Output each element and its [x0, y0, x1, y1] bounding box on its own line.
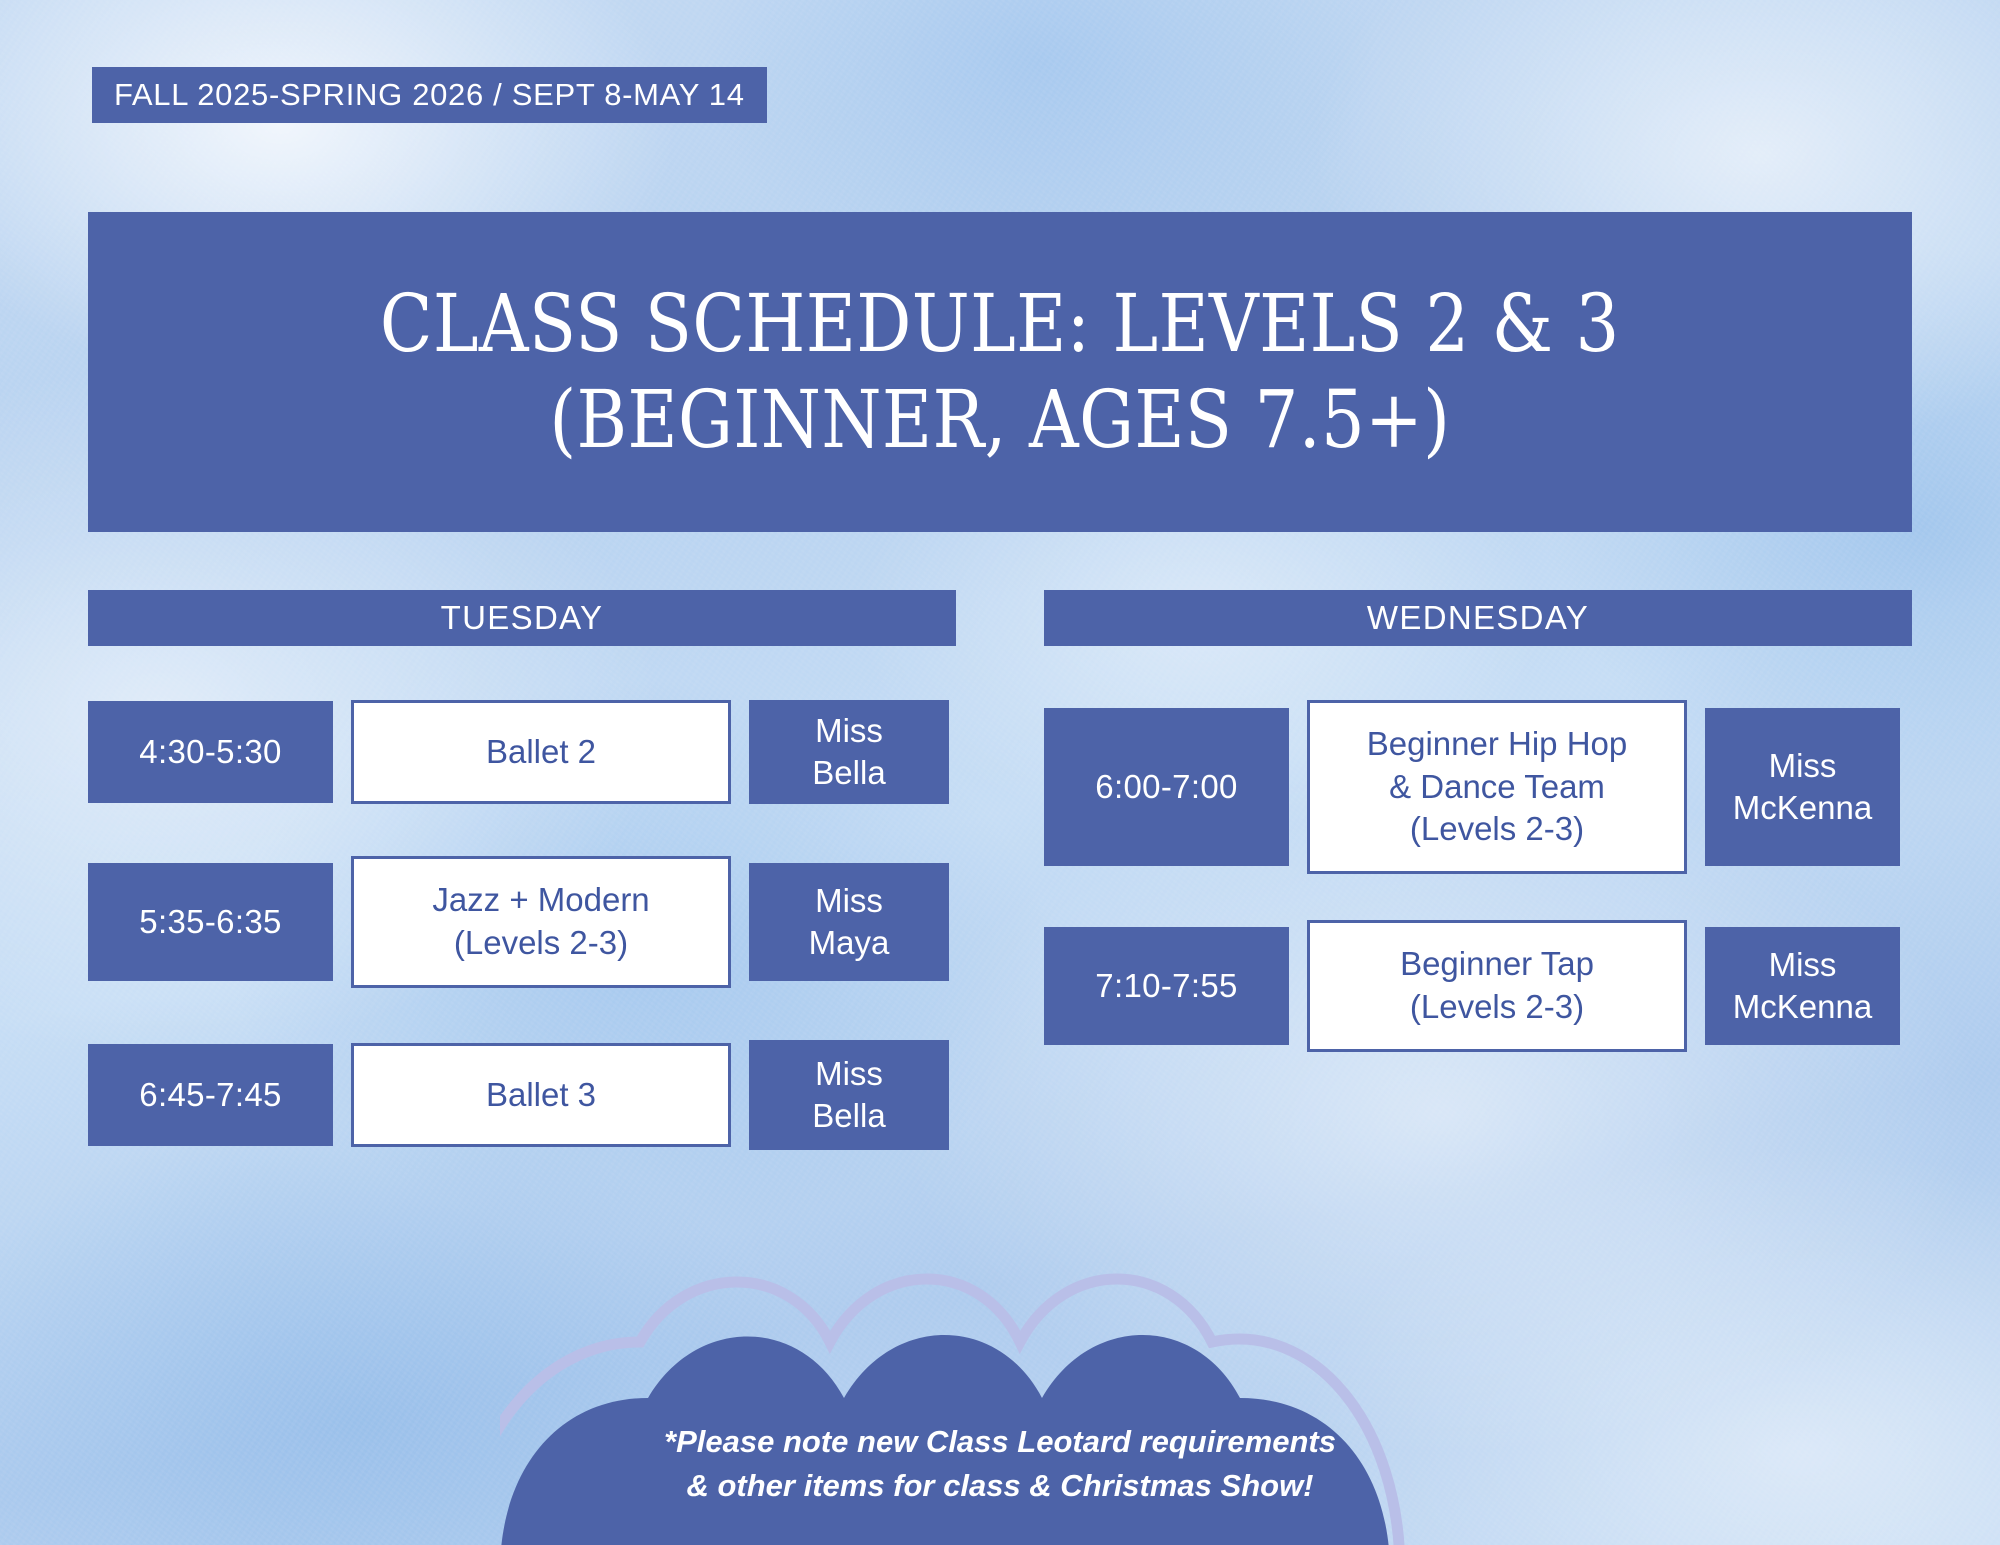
class-cell: Ballet 2 [351, 700, 731, 804]
teacher-cell: Miss Maya [749, 863, 949, 981]
class-name-line-1: Jazz + Modern [432, 879, 649, 922]
time-label: 7:10-7:55 [1095, 967, 1237, 1005]
season-ribbon-label: FALL 2025-SPRING 2026 / SEPT 8-MAY 14 [114, 77, 745, 113]
class-name-line-1: Ballet 3 [486, 1074, 596, 1117]
day-header-label: WEDNESDAY [1367, 599, 1589, 637]
schedule-columns: TUESDAY 4:30-5:30 Ballet 2 Miss Bella 5:… [88, 590, 1912, 1150]
time-label: 4:30-5:30 [139, 733, 281, 771]
schedule-row: 6:00-7:00 Beginner Hip Hop & Dance Team … [1044, 700, 1912, 874]
teacher-title: Miss [815, 1053, 883, 1095]
time-label: 6:45-7:45 [139, 1076, 281, 1114]
footer-note-line-1: *Please note new Class Leotard requireme… [548, 1420, 1452, 1464]
teacher-title: Miss [1769, 944, 1837, 986]
schedule-row: 5:35-6:35 Jazz + Modern (Levels 2-3) Mis… [88, 856, 956, 988]
class-cell: Beginner Tap (Levels 2-3) [1307, 920, 1687, 1052]
page-title-line-1: CLASS SCHEDULE: LEVELS 2 & 3 [380, 277, 1620, 371]
footer-note-line-2: & other items for class & Christmas Show… [548, 1464, 1452, 1508]
season-ribbon: FALL 2025-SPRING 2026 / SEPT 8-MAY 14 [92, 67, 767, 123]
schedule-row: 7:10-7:55 Beginner Tap (Levels 2-3) Miss… [1044, 920, 1912, 1052]
teacher-title: Miss [815, 710, 883, 752]
day-header-tuesday: TUESDAY [88, 590, 956, 646]
teacher-name: Bella [812, 1095, 885, 1137]
time-cell: 6:45-7:45 [88, 1044, 333, 1146]
class-name-line-1: Beginner Hip Hop [1367, 723, 1628, 766]
time-cell: 6:00-7:00 [1044, 708, 1289, 866]
day-column-tuesday: TUESDAY 4:30-5:30 Ballet 2 Miss Bella 5:… [88, 590, 956, 1150]
teacher-cell: Miss McKenna [1705, 927, 1900, 1045]
class-cell: Beginner Hip Hop & Dance Team (Levels 2-… [1307, 700, 1687, 874]
teacher-cell: Miss Bella [749, 700, 949, 804]
teacher-name: Bella [812, 752, 885, 794]
time-cell: 7:10-7:55 [1044, 927, 1289, 1045]
teacher-cell: Miss McKenna [1705, 708, 1900, 866]
page-title-line-2: (BEGINNER, AGES 7.5+) [550, 373, 1451, 467]
time-cell: 5:35-6:35 [88, 863, 333, 981]
time-label: 5:35-6:35 [139, 903, 281, 941]
time-cell: 4:30-5:30 [88, 701, 333, 803]
class-name-line-2: (Levels 2-3) [454, 922, 628, 965]
day-header-label: TUESDAY [441, 599, 604, 637]
class-name-line-1: Beginner Tap [1400, 943, 1594, 986]
title-banner: CLASS SCHEDULE: LEVELS 2 & 3 (BEGINNER, … [88, 212, 1912, 532]
class-cell: Jazz + Modern (Levels 2-3) [351, 856, 731, 988]
class-name-line-1: Ballet 2 [486, 731, 596, 774]
teacher-name: Maya [809, 922, 890, 964]
teacher-title: Miss [815, 880, 883, 922]
footer-cloud-callout: *Please note new Class Leotard requireme… [500, 1272, 1500, 1545]
class-name-line-2: & Dance Team [1389, 766, 1605, 809]
schedule-row: 4:30-5:30 Ballet 2 Miss Bella [88, 700, 956, 804]
class-name-line-3: (Levels 2-3) [1410, 808, 1584, 851]
day-column-wednesday: WEDNESDAY 6:00-7:00 Beginner Hip Hop & D… [1044, 590, 1912, 1150]
teacher-name: McKenna [1733, 787, 1872, 829]
class-name-line-2: (Levels 2-3) [1410, 986, 1584, 1029]
teacher-title: Miss [1769, 745, 1837, 787]
class-cell: Ballet 3 [351, 1043, 731, 1147]
time-label: 6:00-7:00 [1095, 768, 1237, 806]
teacher-name: McKenna [1733, 986, 1872, 1028]
day-header-wednesday: WEDNESDAY [1044, 590, 1912, 646]
schedule-poster: FALL 2025-SPRING 2026 / SEPT 8-MAY 14 CL… [0, 0, 2000, 1545]
schedule-row: 6:45-7:45 Ballet 3 Miss Bella [88, 1040, 956, 1150]
teacher-cell: Miss Bella [749, 1040, 949, 1150]
footer-note: *Please note new Class Leotard requireme… [500, 1420, 1500, 1508]
